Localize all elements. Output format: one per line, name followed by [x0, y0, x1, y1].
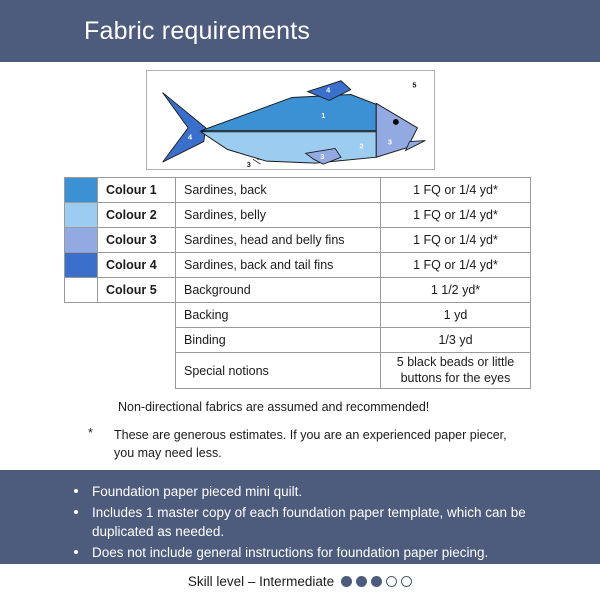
empty-cell [98, 303, 176, 328]
asterisk-marker: * [88, 426, 96, 462]
swatch-cell [65, 278, 98, 303]
label-lower-fin: 3 [247, 160, 251, 169]
sardine-diagram-svg: 1 2 3 3 3 4 4 5 [147, 71, 434, 169]
colour-name-cell: Colour 3 [98, 228, 176, 253]
estimates-note: * These are generous estimates. If you a… [88, 426, 508, 462]
table-row: Colour 5 Background 1 1/2 yd* [65, 278, 531, 303]
colour-name-cell: Colour 1 [98, 178, 176, 203]
amount-cell: 1 FQ or 1/4 yd* [381, 203, 531, 228]
table-row: Colour 3 Sardines, head and belly fins 1… [65, 228, 531, 253]
empty-cell [65, 328, 98, 353]
description-cell: Backing [176, 303, 381, 328]
skill-dot-5 [401, 576, 412, 587]
header-band: Fabric requirements [0, 0, 600, 62]
table-row: Backing 1 yd [65, 303, 531, 328]
swatch-cell [65, 178, 98, 203]
label-body-belly: 2 [360, 141, 364, 150]
skill-level-dots [341, 576, 412, 587]
label-head: 3 [388, 138, 392, 147]
description-cell: Sardines, back [176, 178, 381, 203]
skill-dot-2 [356, 576, 367, 587]
colour-name-cell: Colour 4 [98, 253, 176, 278]
description-cell: Sardines, belly [176, 203, 381, 228]
table-row: Binding 1/3 yd [65, 328, 531, 353]
description-cell: Binding [176, 328, 381, 353]
table-row: Colour 1 Sardines, back 1 FQ or 1/4 yd* [65, 178, 531, 203]
label-body-back: 1 [321, 111, 325, 120]
amount-cell: 1 FQ or 1/4 yd* [381, 178, 531, 203]
colour-swatch [65, 178, 97, 202]
swatch-cell [65, 203, 98, 228]
amount-cell: 1/3 yd [381, 328, 531, 353]
table-row: Colour 4 Sardines, back and tail fins 1 … [65, 253, 531, 278]
skill-dot-4 [386, 576, 397, 587]
skill-dot-3 [371, 576, 382, 587]
amount-cell: 1 FQ or 1/4 yd* [381, 228, 531, 253]
skill-level-row: Skill level – Intermediate [0, 574, 600, 589]
colour-swatch [65, 278, 97, 302]
amount-line-2: buttons for the eyes [389, 371, 522, 387]
non-directional-note: Non-directional fabrics are assumed and … [118, 400, 429, 414]
list-item: Includes 1 master copy of each foundatio… [72, 503, 560, 542]
skill-level-label: Skill level – Intermediate [188, 574, 334, 589]
skill-dot-1 [341, 576, 352, 587]
amount-cell: 1 FQ or 1/4 yd* [381, 253, 531, 278]
colour-swatch [65, 203, 97, 227]
swatch-cell [65, 228, 98, 253]
table-row: Special notions 5 black beads or little … [65, 353, 531, 389]
description-cell: Background [176, 278, 381, 303]
product-details-list: Foundation paper pieced mini quilt. Incl… [0, 470, 600, 562]
description-cell: Sardines, head and belly fins [176, 228, 381, 253]
amount-cell: 1 1/2 yd* [381, 278, 531, 303]
empty-cell [98, 328, 176, 353]
list-item: Foundation paper pieced mini quilt. [72, 482, 560, 502]
sardine-diagram-frame: 1 2 3 3 3 4 4 5 [146, 70, 435, 170]
eye-dot [393, 119, 399, 125]
table-row: Colour 2 Sardines, belly 1 FQ or 1/4 yd* [65, 203, 531, 228]
colour-swatch [65, 253, 97, 277]
fabric-requirements-table: Colour 1 Sardines, back 1 FQ or 1/4 yd* … [64, 177, 531, 389]
estimates-note-text: These are generous estimates. If you are… [114, 426, 508, 462]
description-cell: Special notions [176, 353, 381, 389]
swatch-cell [65, 253, 98, 278]
table-body: Colour 1 Sardines, back 1 FQ or 1/4 yd* … [65, 178, 531, 389]
description-cell: Sardines, back and tail fins [176, 253, 381, 278]
label-belly-fin: 3 [320, 152, 324, 161]
empty-cell [98, 353, 176, 389]
amount-cell: 1 yd [381, 303, 531, 328]
empty-cell [65, 353, 98, 389]
colour-name-cell: Colour 5 [98, 278, 176, 303]
list-item: Does not include general instructions fo… [72, 543, 560, 563]
label-background: 5 [412, 81, 416, 90]
page-title: Fabric requirements [84, 19, 310, 44]
colour-name-cell: Colour 2 [98, 203, 176, 228]
amount-cell: 5 black beads or little buttons for the … [381, 353, 531, 389]
amount-line-1: 5 black beads or little [389, 355, 522, 371]
colour-swatch [65, 228, 97, 252]
product-details-band: Foundation paper pieced mini quilt. Incl… [0, 470, 600, 564]
empty-cell [65, 303, 98, 328]
